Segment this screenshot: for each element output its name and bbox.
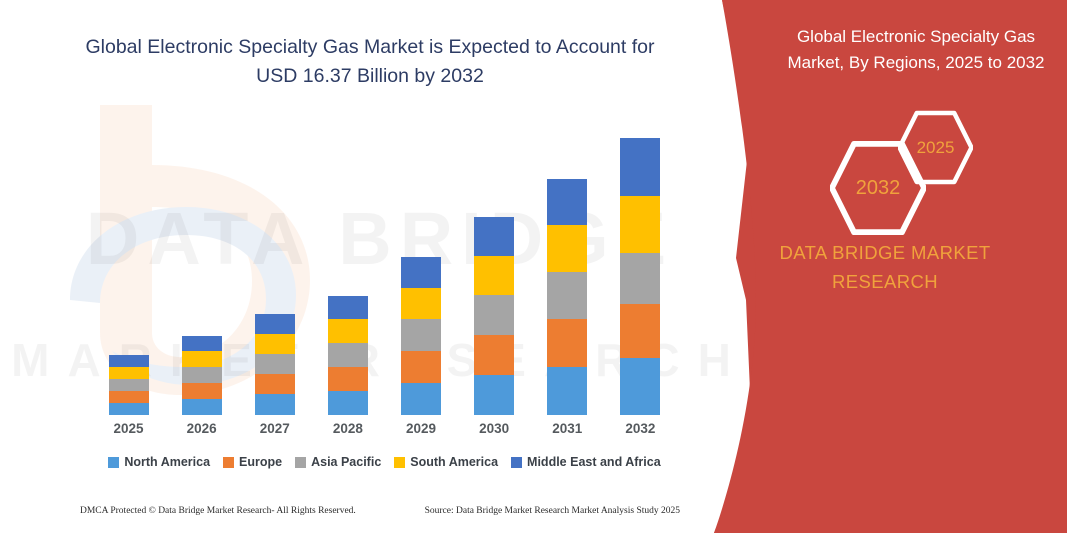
stacked-bars-container <box>92 112 677 415</box>
stacked-bar <box>547 179 587 415</box>
legend-label: Middle East and Africa <box>527 455 661 469</box>
bar-segment <box>109 391 149 403</box>
bar-segment <box>255 394 295 415</box>
x-axis-tick: 2025 <box>98 421 160 436</box>
bar-segment <box>474 256 514 295</box>
bar-segment <box>401 257 441 288</box>
bar-segment <box>182 399 222 415</box>
x-axis-tick: 2032 <box>609 421 671 436</box>
stacked-bar <box>401 257 441 415</box>
bar-segment <box>547 272 587 319</box>
legend-label: South America <box>410 455 498 469</box>
bar-segment <box>109 379 149 391</box>
bar-segment <box>547 225 587 272</box>
bar-segment <box>109 367 149 379</box>
bar-segment <box>474 217 514 256</box>
footer-source: Source: Data Bridge Market Research Mark… <box>425 506 680 516</box>
legend-item[interactable]: South America <box>394 455 498 469</box>
stacked-bar <box>620 138 660 415</box>
stacked-bar <box>474 217 514 415</box>
bar-column <box>609 112 671 415</box>
legend-item[interactable]: Europe <box>223 455 282 469</box>
bar-segment <box>474 375 514 415</box>
bar-segment <box>401 288 441 319</box>
bar-segment <box>547 367 587 415</box>
bar-segment <box>255 354 295 374</box>
legend-item[interactable]: North America <box>108 455 210 469</box>
legend-item[interactable]: Middle East and Africa <box>511 455 661 469</box>
bar-segment <box>328 367 368 391</box>
bar-segment <box>401 319 441 351</box>
legend-label: Asia Pacific <box>311 455 381 469</box>
bar-column <box>171 112 233 415</box>
x-axis-tick: 2030 <box>463 421 525 436</box>
red-panel-content: Global Electronic Specialty Gas Market, … <box>700 0 1067 533</box>
stacked-bar <box>328 296 368 415</box>
hexagon-large-label: 2032 <box>830 140 926 236</box>
stacked-bar <box>109 355 149 415</box>
x-axis-tick: 2029 <box>390 421 452 436</box>
stacked-bar <box>182 336 222 415</box>
legend-item[interactable]: Asia Pacific <box>295 455 381 469</box>
bar-segment <box>620 304 660 358</box>
bar-column <box>536 112 598 415</box>
bar-segment <box>620 196 660 253</box>
bar-segment <box>474 295 514 335</box>
x-axis-tick: 2027 <box>244 421 306 436</box>
hexagon-badge-2032: 2032 <box>830 140 926 236</box>
x-axis-tick: 2028 <box>317 421 379 436</box>
bar-segment <box>109 355 149 367</box>
bar-column <box>98 112 160 415</box>
bar-segment <box>182 367 222 383</box>
x-axis-tick: 2031 <box>536 421 598 436</box>
legend-swatch <box>511 457 522 468</box>
bar-column <box>463 112 525 415</box>
bar-segment <box>255 314 295 334</box>
bar-segment <box>620 138 660 196</box>
panel-brand-text: DATA BRIDGE MARKET RESEARCH <box>740 238 1030 296</box>
bar-segment <box>328 319 368 343</box>
bar-segment <box>328 391 368 415</box>
infographic-canvas: DATA BRIDGE MARKET RESEARCH Global Elect… <box>0 0 1067 533</box>
footer: DMCA Protected © Data Bridge Market Rese… <box>80 506 680 516</box>
right-red-panel: Global Electronic Specialty Gas Market, … <box>700 0 1067 533</box>
bar-segment <box>182 336 222 351</box>
bar-segment <box>547 179 587 225</box>
x-axis-tick: 2026 <box>171 421 233 436</box>
chart-plot-area <box>92 110 677 415</box>
bar-segment <box>182 383 222 399</box>
bar-segment <box>474 335 514 375</box>
bar-segment <box>401 351 441 383</box>
bar-segment <box>620 358 660 415</box>
bar-segment <box>328 343 368 367</box>
legend-swatch <box>295 457 306 468</box>
bar-segment <box>255 374 295 394</box>
bar-segment <box>547 319 587 367</box>
chart-title: Global Electronic Specialty Gas Market i… <box>70 33 670 91</box>
bar-segment <box>109 403 149 415</box>
legend-swatch <box>223 457 234 468</box>
legend-label: Europe <box>239 455 282 469</box>
legend-label: North America <box>124 455 210 469</box>
footer-copyright: DMCA Protected © Data Bridge Market Rese… <box>80 506 356 516</box>
stacked-bar <box>255 314 295 415</box>
panel-title: Global Electronic Specialty Gas Market, … <box>776 24 1056 76</box>
legend-swatch <box>394 457 405 468</box>
bar-column <box>244 112 306 415</box>
chart-legend: North AmericaEuropeAsia PacificSouth Ame… <box>92 455 677 469</box>
bar-segment <box>182 351 222 367</box>
x-axis-labels: 20252026202720282029203020312032 <box>92 421 677 436</box>
bar-segment <box>620 253 660 304</box>
bar-segment <box>328 296 368 319</box>
bar-segment <box>401 383 441 415</box>
bar-column <box>317 112 379 415</box>
legend-swatch <box>108 457 119 468</box>
bar-segment <box>255 334 295 354</box>
bar-column <box>390 112 452 415</box>
